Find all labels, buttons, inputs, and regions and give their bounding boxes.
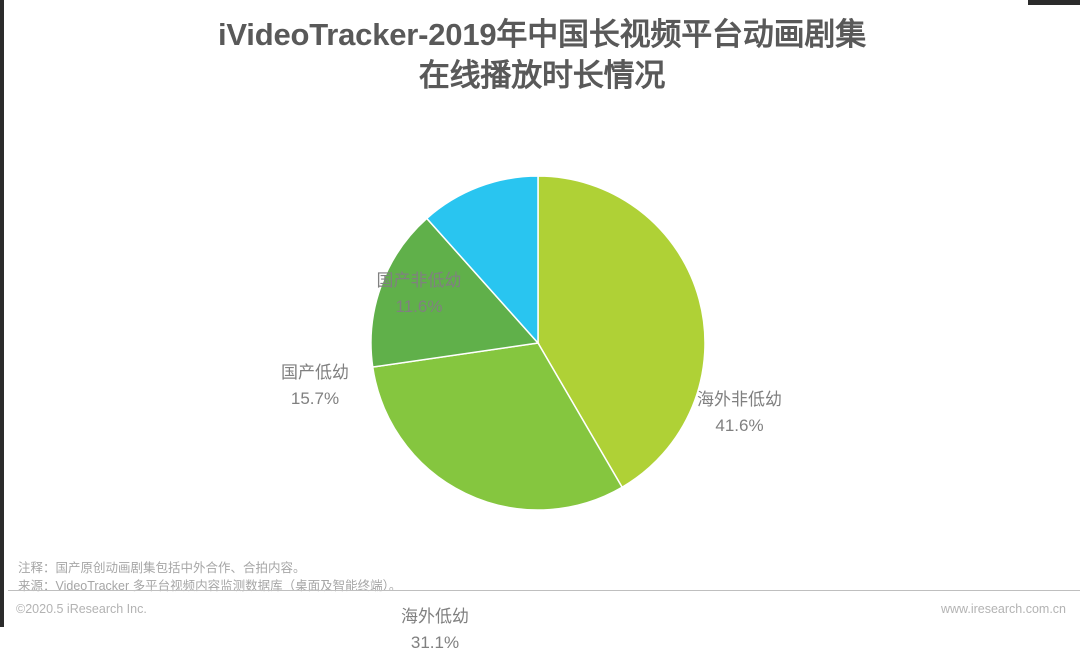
pie-chart: 海外非低幼 41.6% 海外低幼 31.1% 国产低幼 15.7% 国产非低幼 …	[4, 120, 1080, 540]
page-title-line-2: 在线播放时长情况	[4, 55, 1080, 96]
pie-label-guochan-feidiyou: 国产非低幼 11.6%	[359, 268, 479, 320]
footnote-note: 注释：国产原创动画剧集包括中外合作、合拍内容。	[18, 559, 401, 577]
pie-label-name: 海外非低幼	[697, 387, 782, 413]
pie-chart-svg	[4, 120, 1080, 540]
pie-label-value: 15.7%	[260, 386, 370, 412]
pie-label-guochan-diyou: 国产低幼 15.7%	[260, 360, 370, 412]
pie-slice-group	[371, 176, 705, 510]
pie-label-value: 31.1%	[380, 630, 490, 656]
page-title: iVideoTracker-2019年中国长视频平台动画剧集 在线播放时长情况	[4, 14, 1080, 96]
site-url[interactable]: www.iresearch.com.cn	[941, 602, 1066, 616]
copyright-text: ©2020.5 iResearch Inc.	[16, 602, 147, 616]
pie-label-value: 11.6%	[359, 294, 479, 320]
pie-label-haiwai-feidiyou: 海外非低幼 41.6%	[697, 387, 782, 439]
footnote-source: 来源：VideoTracker 多平台视频内容监测数据库（桌面及智能终端）。	[18, 577, 401, 595]
pie-label-name: 国产低幼	[260, 360, 370, 386]
page-title-line-1: iVideoTracker-2019年中国长视频平台动画剧集	[4, 14, 1080, 55]
pie-label-value: 41.6%	[697, 413, 782, 439]
footer-divider	[8, 590, 1080, 591]
pie-label-name: 国产非低幼	[359, 268, 479, 294]
pie-label-haiwai-diyou: 海外低幼 31.1%	[380, 604, 490, 656]
pie-label-name: 海外低幼	[380, 604, 490, 630]
slide-canvas: iVideoTracker-2019年中国长视频平台动画剧集 在线播放时长情况 …	[4, 0, 1080, 627]
